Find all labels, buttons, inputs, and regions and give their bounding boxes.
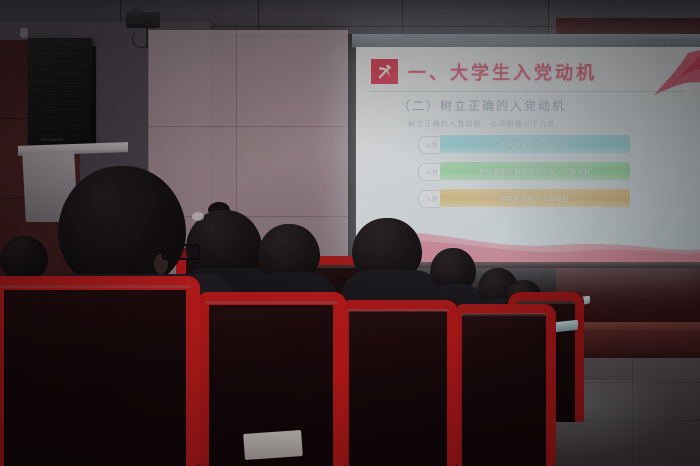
glasses (162, 244, 200, 260)
slide-subtitle: （二）树立正确的入党动机 (398, 97, 566, 114)
cpc-emblem-badge (371, 59, 398, 84)
lecture-hall-photo: SPEAKER △MITSUBISHI ELECTRIC 一、大学生入党动机 （… (0, 0, 700, 466)
title-divider (370, 91, 686, 92)
slide-lead-text: 树立正确的入党动机，必须明确以下几点： (408, 119, 564, 129)
bullet-row: 入党 意味着要比群众多流汗水、多做奉献 (418, 162, 630, 180)
speaker-grille (33, 44, 87, 132)
loudspeaker: SPEAKER (28, 38, 92, 146)
row-bar: 意味着比群众多做牺牲 (440, 189, 630, 207)
hair-clip (192, 212, 204, 221)
housing-brand-logo: △MITSUBISHI ELECTRIC (636, 37, 692, 44)
slide-ribbon-graphic (584, 49, 700, 101)
bullet-row: 入党 意味着比群众多做牺牲 (418, 189, 630, 207)
head (58, 166, 186, 288)
seat (452, 304, 556, 466)
wall-mount-bracket (126, 12, 160, 28)
slide-bullet-rows: 入党 意味着要比群众多吃苦 入党 意味着要比群众多流汗水、多做奉献 入党 意味着… (418, 135, 630, 216)
row-bar: 意味着要比群众多流汗水、多做奉献 (440, 162, 630, 180)
speaker-brand-label: SPEAKER (41, 137, 63, 142)
projector-screen-housing: △MITSUBISHI ELECTRIC (352, 34, 700, 48)
papers-on-lap (243, 430, 303, 460)
slide-title: 一、大学生入党动机 (408, 59, 597, 85)
bullet-row: 入党 意味着要比群众多吃苦 (418, 135, 630, 153)
hanging-cable (132, 30, 150, 48)
hammer-sickle-icon (375, 63, 394, 81)
row-bar: 意味着要比群众多吃苦 (440, 135, 630, 153)
seat (338, 300, 458, 466)
wall-fixture (20, 28, 28, 38)
seat-foreground (0, 276, 200, 466)
